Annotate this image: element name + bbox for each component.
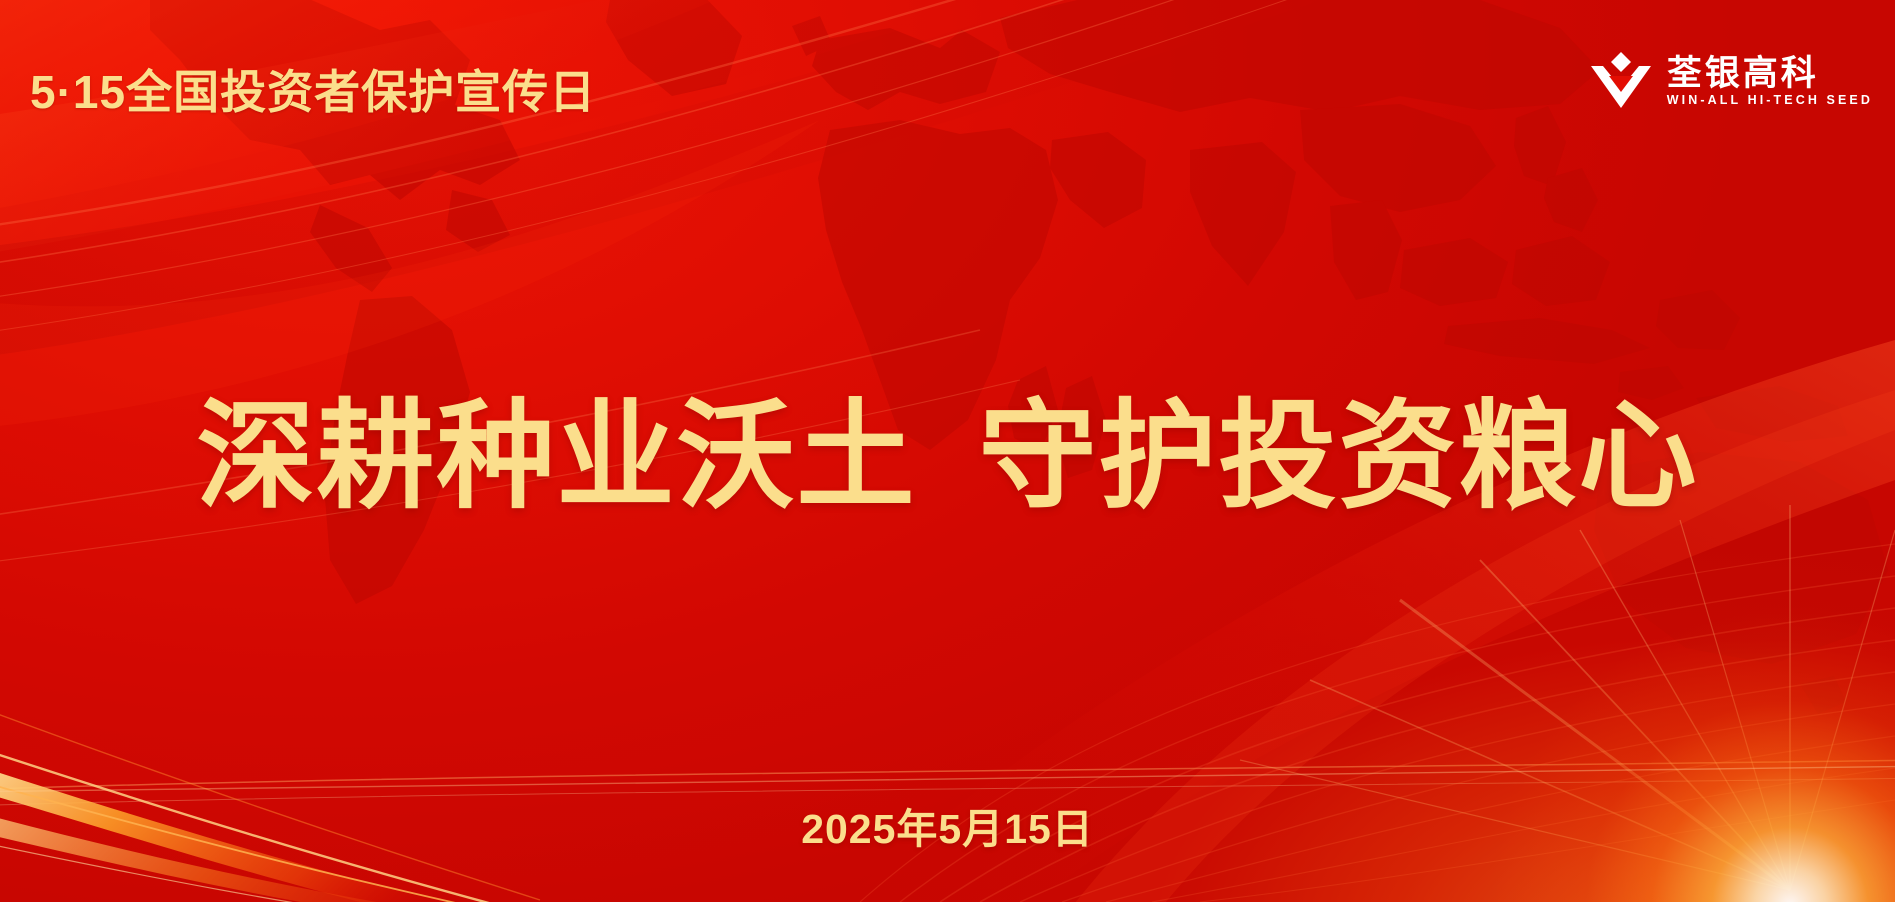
main-title-part-2: 守护投资粮心 xyxy=(979,391,1699,523)
company-logo: 荃银高科 WIN-ALL HI-TECH SEED xyxy=(1589,50,1873,112)
investor-protection-day-banner: 5·15全国投资者保护宣传日 荃银高科 WIN-ALL HI-TECH SEED… xyxy=(0,0,1895,902)
banner-content: 5·15全国投资者保护宣传日 荃银高科 WIN-ALL HI-TECH SEED… xyxy=(0,0,1895,902)
logo-text-block: 荃银高科 WIN-ALL HI-TECH SEED xyxy=(1667,56,1873,107)
logo-name-cn: 荃银高科 xyxy=(1667,56,1873,91)
event-date: 2025年5月15日 xyxy=(0,795,1895,855)
logo-name-en: WIN-ALL HI-TECH SEED xyxy=(1667,94,1873,107)
page-headline: 5·15全国投资者保护宣传日 xyxy=(30,56,596,122)
main-title: 深耕种业沃土守护投资粮心 xyxy=(0,398,1895,516)
chevron-logo-icon xyxy=(1589,50,1653,112)
main-title-part-1: 深耕种业沃土 xyxy=(196,391,916,523)
